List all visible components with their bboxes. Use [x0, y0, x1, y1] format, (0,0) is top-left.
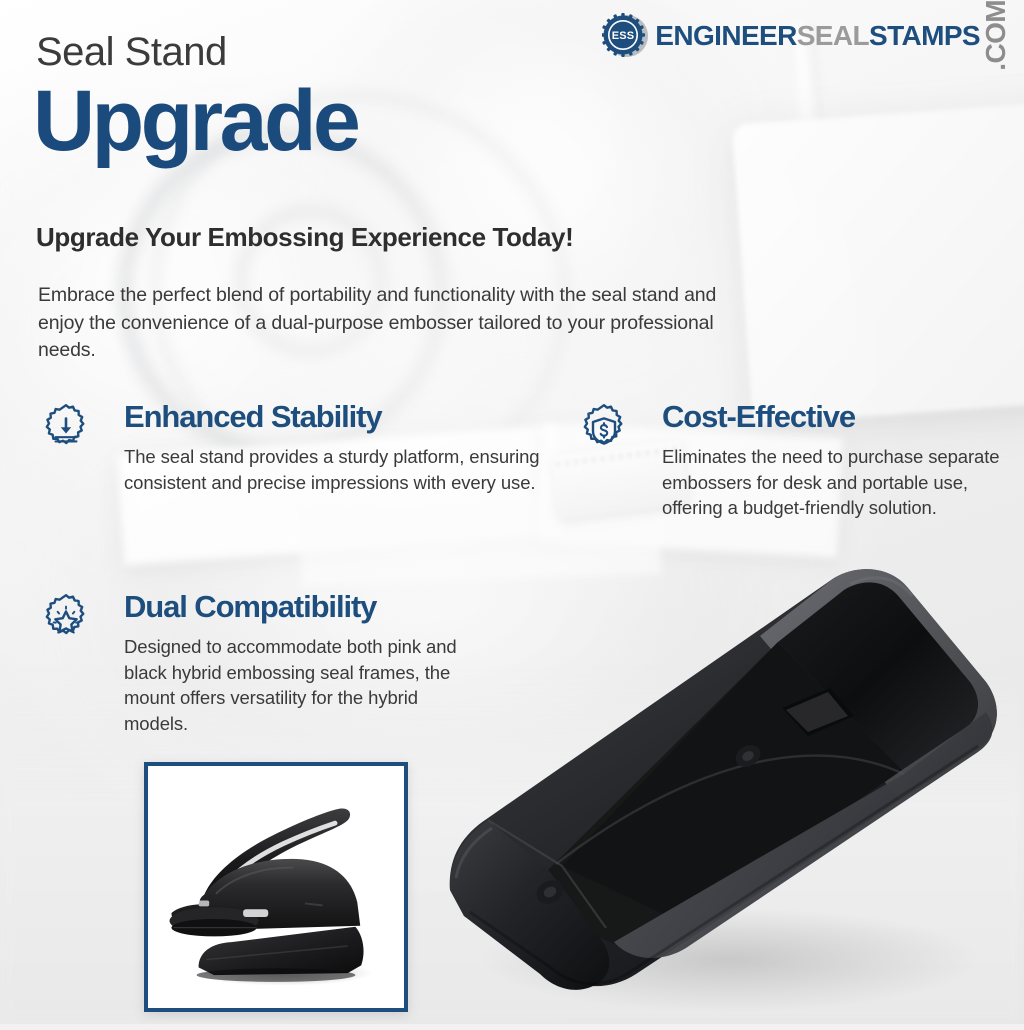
feature-cost-effective: Cost-Effective Eliminates the need to pu…	[574, 400, 1004, 521]
feature-body: Eliminates the need to purchase separate…	[662, 444, 1002, 521]
feature-title: Cost-Effective	[662, 400, 1004, 434]
intro-paragraph: Embrace the perfect blend of portability…	[38, 282, 718, 365]
ess-gear-badge-icon: ESS	[602, 13, 648, 59]
logo-mark-text: ESS	[612, 30, 635, 42]
shield-dollar-badge-icon	[574, 402, 634, 462]
feature-title: Enhanced Stability	[124, 400, 556, 434]
logo-word-stamps: STAMPS	[869, 22, 980, 50]
page-title: Upgrade	[33, 78, 357, 164]
logo-tld: .COM	[982, 0, 1010, 72]
sparkle-star-badge-icon	[36, 592, 96, 652]
subheading: Upgrade Your Embossing Experience Today!	[36, 222, 573, 253]
black-seal-stand-product-photo	[430, 560, 1024, 1030]
logo-word-engineer: ENGINEER	[655, 22, 796, 50]
black-handheld-embosser-photo	[144, 762, 408, 1012]
infographic-content: ESS ENGINEER SEAL STAMPS .COM Seal Stand…	[0, 0, 1024, 1024]
download-onto-platform-badge-icon	[36, 402, 96, 462]
logo-word-seal: SEAL	[797, 22, 869, 50]
feature-body: Designed to accommodate both pink and bl…	[124, 634, 474, 736]
kicker-title: Seal Stand	[36, 30, 227, 75]
feature-enhanced-stability: Enhanced Stability The seal stand provid…	[36, 400, 556, 495]
feature-body: The seal stand provides a sturdy platfor…	[124, 444, 556, 495]
brand-logo[interactable]: ESS ENGINEER SEAL STAMPS .COM	[602, 12, 1010, 60]
